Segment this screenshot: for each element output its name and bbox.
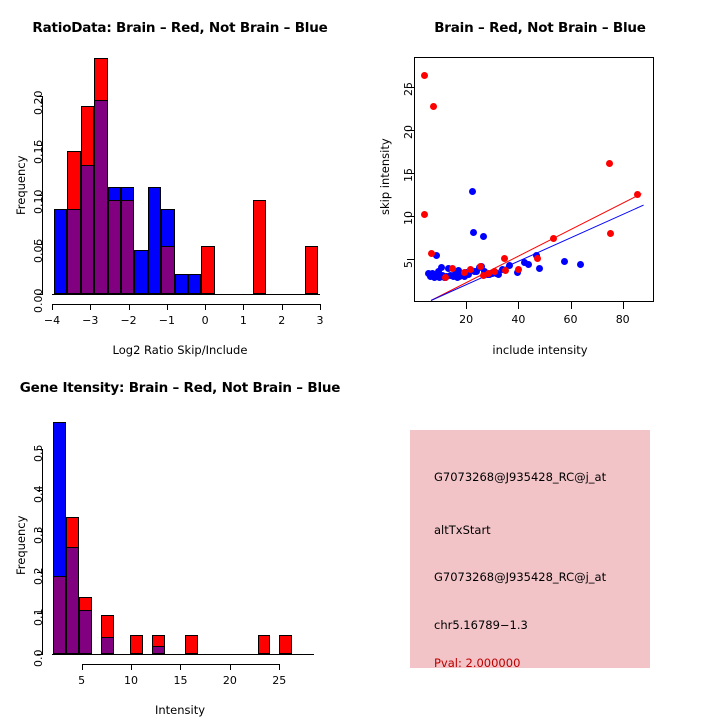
histogram-bar-overlap [161, 246, 174, 294]
panel3-x-tick-label: 5 [68, 674, 96, 687]
panel1-x-tick-label: −1 [153, 314, 181, 327]
panel1-x-tick-label: 2 [268, 314, 296, 327]
scatter-point-not-brain [470, 229, 477, 236]
info-line-locus: chr5.16789−1.3 [434, 618, 528, 632]
panel3-y-tick-label: 0.2 [32, 567, 45, 585]
histogram-bar-not-brain [54, 209, 67, 294]
panel1-x-tick [52, 304, 53, 310]
panel1-x-tick-label: 0 [191, 314, 219, 327]
panel3-x-tick [82, 664, 83, 670]
scatter-point-brain [430, 103, 437, 110]
histogram-bar-overlap [81, 165, 94, 294]
scatter-point-not-brain [525, 261, 532, 268]
histogram-bar-brain [185, 635, 198, 654]
histogram-bar-overlap [67, 209, 80, 294]
histogram-bar-overlap [94, 100, 107, 294]
histogram-bar-overlap [66, 547, 79, 654]
panel1-y-axis-label: Frequency [14, 156, 28, 215]
panel2-title: Brain – Red, Not Brain – Blue [360, 20, 720, 36]
panel2-x-tick-label: 40 [504, 313, 532, 326]
panel3-x-tick-label: 15 [166, 674, 194, 687]
panel2-y-tick-label: 5 [402, 261, 415, 268]
panel1-x-tick [129, 304, 130, 310]
panel1-x-tick-label: −3 [76, 314, 104, 327]
panel1-y-tick-label: 0.20 [32, 90, 45, 115]
scatter-point-not-brain [435, 268, 442, 275]
panel2-y-tick-label: 20 [402, 125, 415, 139]
panel-gene-intensity-histogram: Gene Itensity: Brain – Red, Not Brain – … [0, 360, 360, 720]
histogram-bar-overlap [53, 576, 66, 654]
scatter-point-not-brain [536, 265, 543, 272]
panel3-x-tick-label: 10 [117, 674, 145, 687]
info-line-probe-id-2: G7073268@J935428_RC@j_at [434, 570, 606, 584]
scatter-point-brain [634, 191, 641, 198]
scatter-point-brain [442, 274, 449, 281]
histogram-bar-brain [253, 200, 266, 294]
panel1-x-tick [205, 304, 206, 310]
histogram-bar-not-brain [188, 274, 201, 294]
panel3-y-tick-label: 0.4 [32, 485, 45, 503]
scatter-point-brain [501, 255, 508, 262]
histogram-bar-overlap [79, 610, 92, 654]
panel2-y-tick [407, 259, 414, 260]
panel1-x-tick [167, 304, 168, 310]
histogram-bar-brain [201, 246, 214, 294]
panel1-y-tick-label: 0.10 [32, 189, 45, 214]
panel3-x-tick [279, 664, 280, 670]
panel-intensity-scatter: Brain – Red, Not Brain – Blue skip inten… [360, 0, 720, 360]
panel1-y-tick-label: 0.05 [32, 239, 45, 264]
info-line-probe-id: G7073268@J935428_RC@j_at [434, 470, 606, 484]
panel3-y-axis-label: Frequency [14, 516, 28, 575]
scatter-point-not-brain [577, 261, 584, 268]
panel2-x-tick [571, 302, 572, 309]
panel1-y-tick-label: 0.00 [32, 289, 45, 314]
panel1-x-tick-label: −2 [115, 314, 143, 327]
panel1-x-axis [52, 304, 320, 305]
histogram-bar-overlap [121, 200, 134, 294]
histogram-bar-overlap [108, 200, 121, 294]
panel2-x-tick [518, 302, 519, 309]
panel2-x-tick-label: 20 [452, 313, 480, 326]
panel2-x-tick-label: 60 [557, 313, 585, 326]
panel2-plot-area [414, 57, 654, 302]
scatter-point-not-brain [469, 188, 476, 195]
histogram-bar-not-brain [175, 274, 188, 294]
panel3-y-tick-label: 0.5 [32, 444, 45, 462]
panel3-y-tick-label: 0.1 [32, 608, 45, 626]
panel3-x-tick [180, 664, 181, 670]
panel-ratio-histogram: RatioData: Brain – Red, Not Brain – Blue… [0, 0, 360, 360]
info-line-pval: Pval: 2.000000 [434, 656, 520, 670]
panel2-x-tick-label: 80 [609, 313, 637, 326]
histogram-bar-brain [130, 635, 143, 654]
histogram-bar-brain [305, 246, 318, 294]
panel3-x-axis-label: Intensity [0, 703, 360, 717]
histogram-bar-not-brain [134, 250, 147, 294]
panel3-y-tick-label: 0.0 [32, 650, 45, 668]
scatter-point-brain [550, 235, 557, 242]
panel1-x-tick-label: −4 [38, 314, 66, 327]
panel1-x-tick-label: 1 [229, 314, 257, 327]
panel3-baseline [52, 654, 314, 655]
panel1-x-tick [282, 304, 283, 310]
panel2-y-axis-label: skip intensity [378, 138, 392, 215]
panel2-x-tick [623, 302, 624, 309]
histogram-bar-brain [279, 635, 292, 654]
scatter-point-brain [534, 255, 541, 262]
scatter-point-not-brain [561, 258, 568, 265]
panel2-y-tick-label: 10 [402, 211, 415, 225]
gene-annotation-panel: G7073268@J935428_RC@j_ataltTxStartG70732… [410, 430, 650, 668]
scatter-point-brain [606, 160, 613, 167]
panel3-y-tick-label: 0.3 [32, 526, 45, 544]
scatter-point-brain [607, 230, 614, 237]
panel1-baseline [52, 294, 320, 295]
panel3-x-tick [230, 664, 231, 670]
panel3-x-tick-label: 25 [265, 674, 293, 687]
info-line-event-type: altTxStart [434, 523, 491, 537]
panel2-x-tick [466, 302, 467, 309]
panel1-x-tick [90, 304, 91, 310]
panel1-x-tick-label: 3 [306, 314, 334, 327]
panel2-x-axis-label: include intensity [360, 343, 720, 357]
scatter-point-brain [491, 268, 498, 275]
panel1-x-tick [243, 304, 244, 310]
panel1-x-axis-label: Log2 Ratio Skip/Include [0, 343, 360, 357]
scatter-point-not-brain [480, 233, 487, 240]
histogram-bar-brain [258, 635, 271, 654]
panel3-x-tick [131, 664, 132, 670]
scatter-point-brain [502, 267, 509, 274]
panel2-y-tick-label: 15 [402, 168, 415, 182]
scatter-point-brain [421, 211, 428, 218]
histogram-bar-not-brain [148, 187, 161, 294]
scatter-point-brain [515, 266, 522, 273]
scatter-point-brain [421, 72, 428, 79]
histogram-bar-overlap [101, 637, 114, 654]
panel1-x-tick [320, 304, 321, 310]
histogram-bar-overlap [152, 646, 165, 654]
panel3-x-tick-label: 20 [216, 674, 244, 687]
panel1-title: RatioData: Brain – Red, Not Brain – Blue [0, 20, 360, 36]
panel3-title: Gene Itensity: Brain – Red, Not Brain – … [0, 380, 360, 396]
scatter-point-brain [449, 265, 456, 272]
figure-canvas: RatioData: Brain – Red, Not Brain – Blue… [0, 0, 720, 720]
panel2-y-tick-label: 25 [402, 82, 415, 96]
panel1-y-tick-label: 0.15 [32, 140, 45, 165]
